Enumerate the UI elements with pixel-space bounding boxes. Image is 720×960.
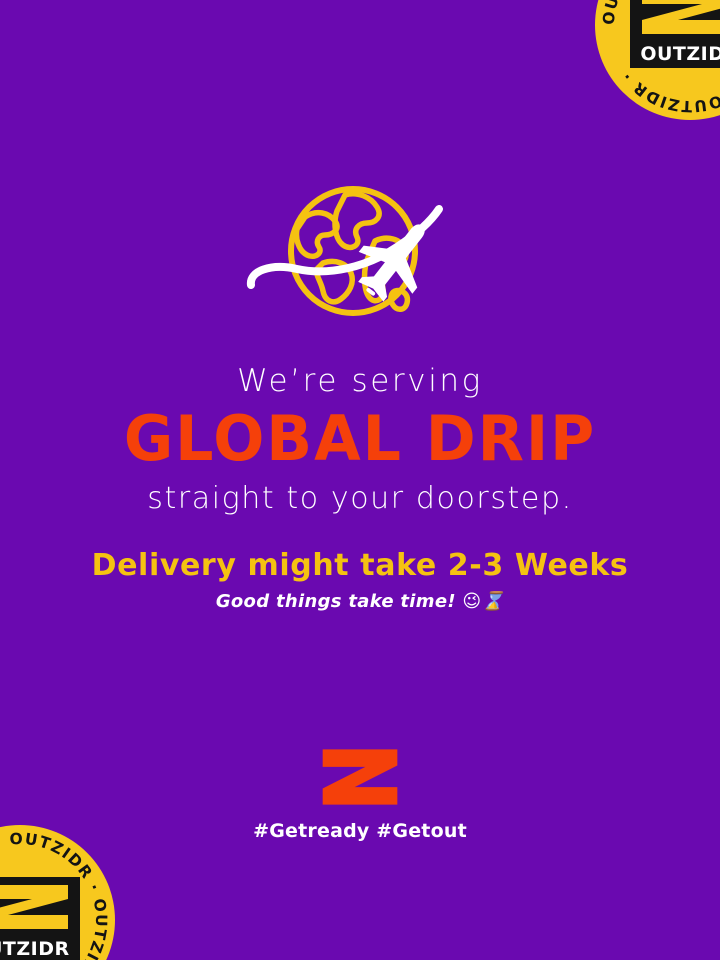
badge-wordmark: OUTZIDR [630, 40, 720, 68]
badge-core-bottom-left: OUTZIDR [0, 877, 80, 960]
footer-lockup: #Getready #Getout [0, 748, 720, 842]
globe-with-airplane-icon [245, 179, 475, 339]
delivery-headline: Delivery might take 2-3 Weeks [0, 546, 720, 586]
badge-wordmark: OUTZIDR [0, 935, 80, 960]
hero-illustration [0, 176, 720, 341]
brand-badge-top-right: OUTZIDR · OUTZIDR · OUTZIDR · OUTZIDR · … [595, 0, 720, 120]
subheadline-text: straight to your doorstep. [0, 476, 720, 522]
promo-poster: OUTZIDR · OUTZIDR · OUTZIDR · OUTZIDR · … [0, 0, 720, 960]
delivery-note: Good things take time! 😉⌛ [0, 586, 720, 618]
brand-monogram-z-icon [320, 748, 400, 806]
badge-core-top-right: OUTZIDR [630, 0, 720, 68]
eyebrow-text: We’re serving [0, 360, 720, 402]
headline-block: We’re serving GLOBAL DRIP straight to yo… [0, 360, 720, 522]
footer-tagline: #Getready #Getout [0, 820, 720, 842]
badge-monogram-z-icon [630, 0, 720, 42]
delivery-notice: Delivery might take 2-3 Weeks Good thing… [0, 546, 720, 618]
page-title: GLOBAL DRIP [11, 402, 709, 476]
badge-monogram-z-icon [0, 877, 80, 937]
brand-badge-bottom-left: OUTZIDR · OUTZIDR · OUTZIDR · OUTZIDR · … [0, 825, 115, 960]
